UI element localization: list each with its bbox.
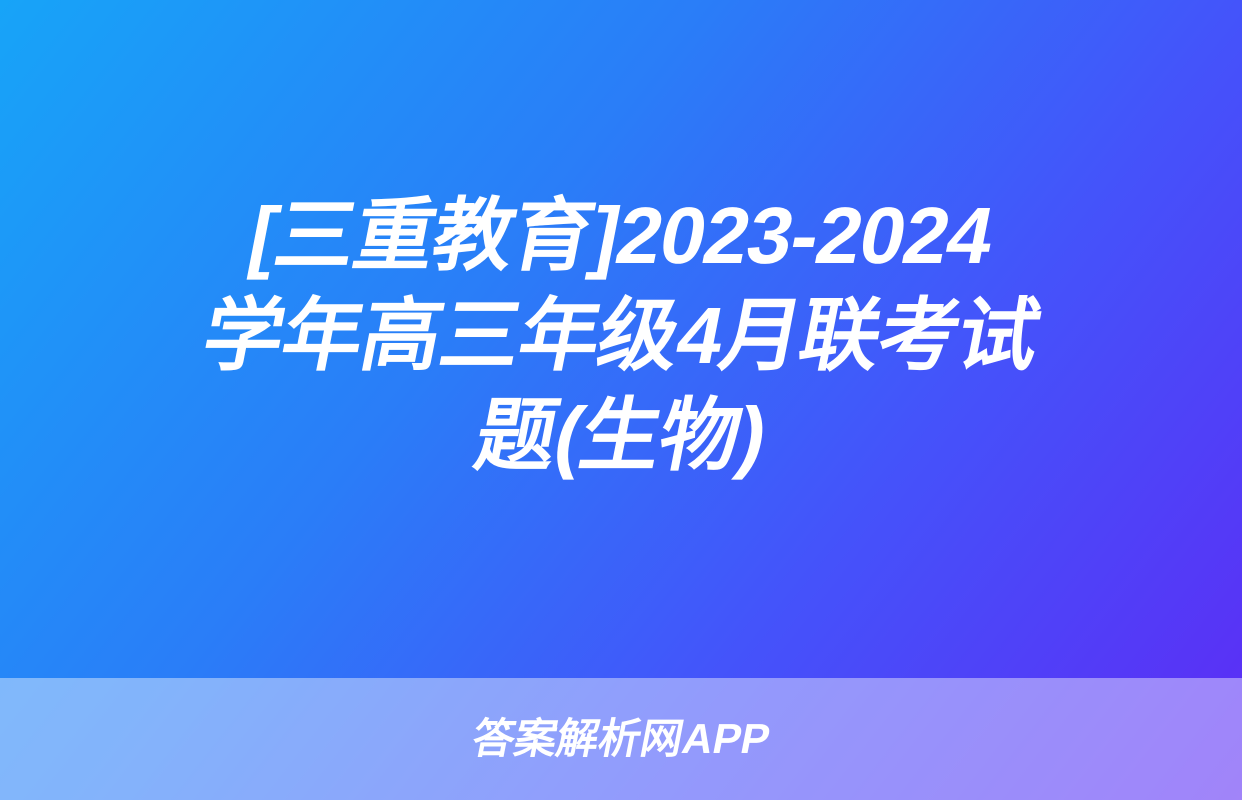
footer-brand-band: 答案解析网APP	[0, 678, 1242, 800]
title-line-1: [三重教育]2023-2024	[14, 186, 1227, 286]
app-brand-label: 答案解析网APP	[468, 715, 774, 763]
title-line-2: 学年高三年级4月联考试	[14, 286, 1227, 386]
title-block: [三重教育]2023-2024 学年高三年级4月联考试 题(生物)	[0, 186, 1242, 606]
title-line-3: 题(生物)	[14, 386, 1227, 486]
exam-cover-banner: [三重教育]2023-2024 学年高三年级4月联考试 题(生物) 答案解析网A…	[0, 0, 1242, 800]
